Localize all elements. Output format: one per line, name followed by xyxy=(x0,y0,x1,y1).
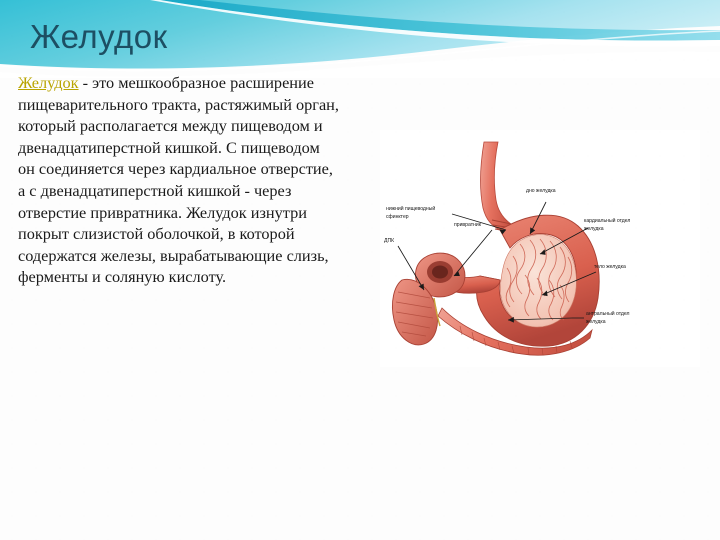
body-paragraph: Желудок - это мешкообразное расширение п… xyxy=(18,72,340,288)
label-antral-part-line2: желудка xyxy=(586,319,606,325)
stomach-anatomy-illustration: нижний пищеводный сфинктер дно желудка к… xyxy=(380,130,700,367)
label-duodenum: ДПК xyxy=(384,238,394,244)
presentation-slide: Желудок Желудок - это мешкообразное расш… xyxy=(0,0,720,540)
label-lower-esophageal-sphincter-line1: нижний пищеводный xyxy=(386,205,435,212)
keyword-link-zheludok[interactable]: Желудок xyxy=(18,73,79,92)
label-body-of-stomach: тело желудка xyxy=(594,264,626,270)
label-fundus: дно желудка xyxy=(526,188,556,194)
body-paragraph-text: - это мешкообразное расширение пищеварит… xyxy=(18,73,339,286)
pyloric-canal xyxy=(432,266,448,279)
page-title: Желудок xyxy=(30,18,168,56)
label-pylorus: привратник xyxy=(454,222,482,228)
label-lower-esophageal-sphincter-line2: сфинктер xyxy=(386,214,409,220)
label-antral-part-line1: антральный отдел xyxy=(586,310,630,317)
label-cardiac-part-line2: желудка xyxy=(584,226,604,232)
stomach-anatomy-figure: нижний пищеводный сфинктер дно желудка к… xyxy=(380,130,700,367)
label-cardiac-part-line1: кардиальный отдел xyxy=(584,217,630,224)
